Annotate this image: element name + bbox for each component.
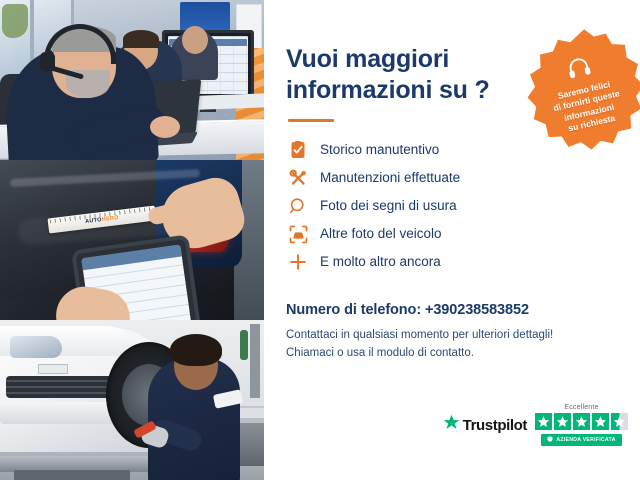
list-item: Foto dei segni di usura <box>288 192 614 220</box>
tool-rack-decor <box>250 324 260 398</box>
title-divider <box>288 119 334 122</box>
star-rating <box>535 413 628 430</box>
list-item: E molto altro ancora <box>288 248 614 276</box>
star-2 <box>554 413 571 430</box>
star-1 <box>535 413 552 430</box>
info-on-request-badge: Saremo felici di fornirti queste informa… <box>522 28 640 152</box>
shield-check-icon <box>547 436 553 444</box>
rating-label: Eccellente <box>564 404 598 411</box>
phone-number[interactable]: Numero di telefono: +390238583852 <box>286 302 614 318</box>
list-item-label: Manutenzioni effettuate <box>320 171 460 185</box>
contact-line-1: Contattaci in qualsiasi momento per ulte… <box>286 327 614 345</box>
star-3 <box>573 413 590 430</box>
car-headlight-decor <box>10 336 62 358</box>
page-title-line1: Vuoi maggiori <box>286 45 449 73</box>
trustpilot-star-icon <box>443 414 460 436</box>
list-item-label: Altre foto del veicolo <box>320 227 442 241</box>
list-item: Manutenzioni effettuate <box>288 164 614 192</box>
list-item: Altre foto del veicolo <box>288 220 614 248</box>
garage-lift-photo <box>0 320 264 480</box>
car-grille-decor <box>6 376 114 398</box>
plus-icon <box>288 252 308 272</box>
list-item-label: E molto altro ancora <box>320 255 441 269</box>
lift-base-decor <box>14 470 130 480</box>
trustpilot-rating: Eccellente AZIENDA VERIFICATA <box>535 404 628 446</box>
call-center-photo <box>0 0 264 160</box>
mechanic-hair-decor <box>170 334 222 366</box>
foliage-decor <box>2 4 28 38</box>
magnifier-icon <box>288 196 308 216</box>
status-badge: AZIENDA VERIFICATA <box>541 434 621 446</box>
trustpilot-block[interactable]: Trustpilot Eccellente AZIENDA VERIFICATA <box>443 404 628 446</box>
third-worker-head-decor <box>182 26 208 54</box>
photo-column: AUTOHERO <box>0 0 264 480</box>
content-panel: Vuoi maggiori informazioni su ? Storico … <box>264 0 640 480</box>
car-inspection-photo: AUTOHERO <box>0 160 264 320</box>
trustpilot-logo: Trustpilot <box>443 414 527 436</box>
contact-text: Contattaci in qualsiasi momento per ulte… <box>286 327 614 363</box>
verified-label: AZIENDA VERIFICATA <box>556 437 615 443</box>
page-title: Vuoi maggiori informazioni su ? <box>286 44 501 105</box>
ruler-brand-part1: AUTO <box>85 217 102 225</box>
list-item-label: Storico manutentivo <box>320 143 439 157</box>
checklist-icon <box>288 140 308 160</box>
promo-page: AUTOHERO <box>0 0 640 480</box>
list-item-label: Foto dei segni di usura <box>320 199 457 213</box>
call-agent-hand-decor <box>150 116 180 138</box>
page-title-line2: informazioni su ? <box>286 76 490 104</box>
star-4 <box>592 413 609 430</box>
green-tool-decor <box>240 330 248 360</box>
contact-line-2: Chiamaci o usa il modulo di contatto. <box>286 345 614 363</box>
headset-icon <box>565 54 594 86</box>
star-5-half <box>611 413 628 430</box>
trustpilot-brand-label: Trustpilot <box>463 417 527 434</box>
car-plate-decor <box>38 364 68 374</box>
scan-car-icon <box>288 224 308 244</box>
tools-icon <box>288 168 308 188</box>
ruler-brand-part2: HERO <box>101 214 119 222</box>
second-worker-hair-decor <box>123 30 159 48</box>
